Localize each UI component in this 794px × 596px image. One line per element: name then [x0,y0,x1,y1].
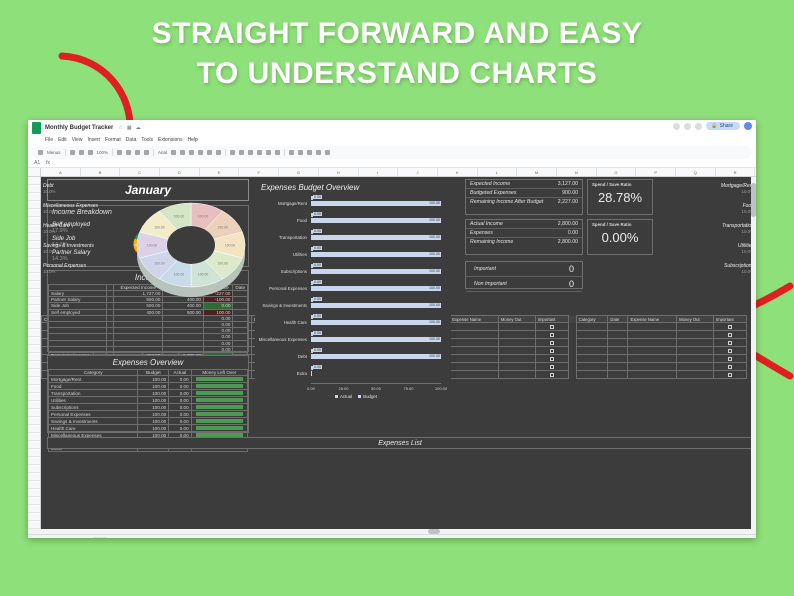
bar-budget: 100.00 [311,252,441,257]
row-header[interactable] [28,297,40,305]
functions-icon[interactable] [325,150,330,155]
align-vertical-icon[interactable] [257,150,262,155]
chevron-down-icon[interactable]: ▾ [256,538,258,539]
row-header[interactable] [28,401,40,409]
expenses-overview-money-left [191,397,247,404]
row-header[interactable] [28,441,40,449]
column-header-I[interactable]: I [359,168,399,176]
sheet-tab-aug[interactable]: Aug [262,537,276,538]
expenses-list-cell[interactable] [713,363,746,371]
expenses-list-cell[interactable] [713,323,746,331]
row-header[interactable] [28,241,40,249]
chevron-down-icon[interactable]: ▾ [305,538,307,539]
expenses-list-cell[interactable] [713,355,746,363]
chevron-down-icon[interactable]: ▾ [182,538,184,539]
zoom-level[interactable]: 100% [97,150,109,155]
decimal-decrease-icon[interactable] [135,150,140,155]
borders-icon[interactable] [230,150,235,155]
redo-icon[interactable] [70,150,75,155]
row-header[interactable] [28,321,40,329]
expenses-list-cell[interactable] [608,371,628,379]
expenses-overview-category[interactable]: Transportation [49,390,138,397]
text-color-icon[interactable] [207,150,212,155]
donut-legend-pct: 10.0% [721,209,754,214]
undo-icon[interactable] [38,150,43,155]
expenses-list-cell[interactable] [677,339,714,347]
row-header[interactable] [28,289,40,297]
menubar: FileEditViewInsertFormatDataToolsExtensi… [28,135,756,144]
expenses-list-cell[interactable] [628,339,677,347]
expenses-overview-budget[interactable]: 100.00 [138,376,169,383]
menu-view[interactable]: View [72,137,83,143]
bar-actual-value: 0.00 [313,280,322,284]
expenses-overview-actual[interactable]: 0.00 [169,425,191,432]
expenses-overview-actual[interactable]: 0.00 [169,383,191,390]
chevron-down-icon[interactable]: ▾ [135,538,137,539]
expenses-overview-money-left [191,390,247,397]
paint-format-icon[interactable] [88,150,93,155]
bar-budget: 100.00 [311,354,441,359]
column-header-R[interactable]: R [716,168,756,176]
donut-legend-item: Food10.0% [721,203,754,214]
expenses-overview-money-left [191,404,247,411]
bar-actual-value: 0.00 [313,314,322,318]
expenses-overview-category[interactable]: Food [49,383,138,390]
column-header-P[interactable]: P [636,168,676,176]
share-button[interactable]: 🔒 Share [706,122,740,130]
expenses-list-cell[interactable] [576,355,608,363]
expenses-list-cell[interactable] [535,371,568,379]
important-checkbox[interactable] [550,349,554,353]
actual-summary-value: 2,800.00 [558,221,578,227]
expenses-list-cell[interactable] [713,371,746,379]
menu-extensions[interactable]: Extensions [158,137,182,143]
bar-chart-row: Food0.00100.00 [311,213,441,230]
chevron-down-icon[interactable]: ▾ [206,538,208,539]
sheet-tab-anual-overview[interactable]: Anual Overview [47,537,84,538]
important-checkbox[interactable] [550,373,554,377]
expenses-overview-money-left [191,418,247,425]
sheet-tab-july[interactable]: July [238,537,252,538]
table-row[interactable]: Subscriptions100.000.00 [49,404,248,411]
font-size-decrease-icon[interactable] [171,150,176,155]
comment-icon[interactable] [684,123,691,130]
expenses-list-cell[interactable] [576,347,608,355]
row-header[interactable] [28,217,40,225]
expenses-overview-budget[interactable]: 100.00 [138,383,169,390]
expenses-list-cell[interactable] [498,323,535,331]
column-header-G[interactable]: G [279,168,319,176]
actual-summary-label: Actual Income [470,221,503,227]
avatar[interactable] [744,122,752,130]
column-header-C[interactable]: C [120,168,160,176]
column-header-K[interactable]: K [438,168,478,176]
expenses-overview-budget[interactable]: 100.00 [138,397,169,404]
expenses-list-cell[interactable] [713,347,746,355]
bar-budget: 100.00 [311,218,441,223]
row-header[interactable] [28,377,40,385]
menu-file[interactable]: File [45,137,53,143]
flag-value: 0 [569,264,574,274]
expenses-overview-budget[interactable]: 100.00 [138,411,169,418]
expenses-list-cell[interactable] [576,363,608,371]
donut-legend-pct: 10.0% [43,209,98,214]
column-header-E[interactable]: E [200,168,240,176]
sheet-tab-mar[interactable]: Mar [141,537,155,538]
filter-icon[interactable] [316,150,321,155]
bar-chart-x-tick: 50.00 [371,386,381,391]
row-header[interactable] [28,353,40,361]
expenses-list-cell[interactable] [628,363,677,371]
chevron-down-icon[interactable]: ▾ [111,538,113,539]
column-header-L[interactable]: L [478,168,518,176]
important-checkbox[interactable] [550,341,554,345]
bar-chart-category-label: Savings & Investments [257,303,307,308]
search-menus-label[interactable]: Menus [47,150,61,155]
expenses-list-cell[interactable] [608,355,628,363]
column-header-H[interactable]: H [319,168,359,176]
menu-tools[interactable]: Tools [141,137,153,143]
column-header-N[interactable]: N [557,168,597,176]
table-row[interactable]: Food100.000.00 [49,383,248,390]
menu-insert[interactable]: Insert [87,137,100,143]
strikethrough-icon[interactable] [198,150,203,155]
row-header[interactable] [28,225,40,233]
expenses-overview-budget[interactable]: 100.00 [138,418,169,425]
row-header[interactable] [28,265,40,273]
row-header[interactable] [28,481,40,489]
expenses-overview-money-left [191,411,247,418]
expenses-list-cell[interactable] [450,323,499,331]
row-header[interactable] [28,449,40,457]
row-header[interactable] [28,337,40,345]
row-header[interactable] [28,329,40,337]
expenses-list-cell[interactable] [498,355,535,363]
donut-slice-label: 100.00 [147,244,157,248]
donut-legend-item: Savings & Investments10.0% [43,243,98,254]
chevron-down-icon[interactable]: ▾ [232,538,234,539]
expenses-overview-actual[interactable]: 0.00 [169,376,191,383]
sheet-tab-nov[interactable]: Nov [335,537,349,538]
expenses-list-cell[interactable] [535,363,568,371]
bold-icon[interactable] [180,150,185,155]
expenses-list-cell[interactable] [535,331,568,339]
expenses-list-cell[interactable] [498,331,535,339]
expenses-list-cell[interactable] [713,339,746,347]
expenses-list-cell[interactable] [677,331,714,339]
expenses-list-cell[interactable] [608,323,628,331]
table-row[interactable]: Transportation100.000.00 [49,390,248,397]
bar-actual-value: 0.00 [313,348,322,352]
sheet-tab-jan[interactable]: Jan [93,537,107,538]
important-checkbox[interactable] [728,365,732,369]
horizontal-scrollbar[interactable] [28,529,756,534]
expenses-list-cell[interactable] [608,347,628,355]
row-header[interactable] [28,273,40,281]
bar-chart-category-label: Food [257,218,307,223]
expenses-list-cell[interactable] [677,347,714,355]
expenses-overview-budget[interactable]: 100.00 [138,390,169,397]
expenses-list-cell[interactable] [535,323,568,331]
bar-legend-swatch [358,395,361,398]
bar-actual-value: 0.00 [313,246,322,250]
currency-icon[interactable] [117,150,122,155]
expenses-list-col-header: Date [608,316,628,323]
expenses-list-cell[interactable] [608,363,628,371]
important-checkbox[interactable] [728,341,732,345]
expenses-list-cell[interactable] [498,371,535,379]
row-header[interactable] [28,465,40,473]
row-header[interactable] [28,457,40,465]
expenses-overview-category[interactable]: Health Care [49,425,138,432]
italic-icon[interactable] [189,150,194,155]
expenses-overview-actual[interactable]: 0.00 [169,418,191,425]
expenses-list-cell[interactable] [677,371,714,379]
row-header[interactable] [28,201,40,209]
expenses-list-cell[interactable] [628,331,677,339]
expenses-list-cell[interactable] [713,331,746,339]
history-icon[interactable] [673,123,680,130]
column-header-O[interactable]: O [597,168,637,176]
row-header[interactable] [28,305,40,313]
bar-chart-category-label: Health Care [257,320,307,325]
expenses-list-cell[interactable] [576,323,608,331]
important-checkbox[interactable] [728,373,732,377]
select-all-corner[interactable] [28,168,41,176]
menu-format[interactable]: Format [105,137,121,143]
important-checkbox[interactable] [550,365,554,369]
row-header[interactable] [28,233,40,241]
expenses-list-cell[interactable] [450,355,499,363]
expenses-overview-actual[interactable]: 0.00 [169,404,191,411]
insert-link-icon[interactable] [289,150,294,155]
row-header[interactable] [28,505,40,513]
chevron-down-icon[interactable]: ▾ [328,538,330,539]
expenses-list-cell[interactable] [498,339,535,347]
row-header[interactable] [28,513,40,521]
important-checkbox[interactable] [728,333,732,337]
donut-slice-label: 100.00 [217,226,227,230]
expenses-overview-actual[interactable]: 0.00 [169,390,191,397]
bar-chart-row: Mortgage/Rent0.00100.00 [311,196,441,213]
important-checkbox[interactable] [550,333,554,337]
print-icon[interactable] [79,150,84,155]
insert-comment-icon[interactable] [298,150,303,155]
chevron-down-icon[interactable]: ▾ [159,538,161,539]
row-header[interactable] [28,313,40,321]
important-checkbox[interactable] [550,325,554,329]
bar-chart-category-label: Debt [257,354,307,359]
expenses-list-cell[interactable] [450,331,499,339]
bar-chart-row: Debt0.00100.00 [311,349,441,366]
expenses-list-cell[interactable] [535,339,568,347]
sheet-tab-apr[interactable]: Apr [165,537,178,538]
budgeted-summary-value: 2,227.00 [558,199,578,205]
expenses-list-cell[interactable] [628,323,677,331]
table-row[interactable]: Personal Expenses100.000.00 [49,411,248,418]
row-header[interactable] [28,185,40,193]
sheet-tab-june[interactable]: June [212,537,228,538]
chevron-down-icon[interactable]: ▾ [376,538,378,539]
row-header[interactable] [28,361,40,369]
menu-data[interactable]: Data [126,137,137,143]
column-header-D[interactable]: D [160,168,200,176]
sheet-tab-oct[interactable]: Oct [312,537,325,538]
move-folder-icon[interactable]: ▦ [127,125,132,131]
row-header[interactable] [28,433,40,441]
expenses-overview-category[interactable]: Subscriptions [49,404,138,411]
expenses-overview-category[interactable]: Savings & Investments [49,418,138,425]
table-row[interactable]: Savings & Investments100.000.00 [49,418,248,425]
bar-chart-row: Miscellaneous Expenses0.00100.00 [311,332,441,349]
row-header[interactable] [28,497,40,505]
merge-cells-icon[interactable] [239,150,244,155]
all-sheets-icon[interactable]: ☰ [32,538,36,539]
bar-actual: 0.00 [311,230,313,234]
important-checkbox[interactable] [728,325,732,329]
table-row[interactable]: Mortgage/Rent100.000.00 [49,376,248,383]
bar-chart-category-label: Miscellaneous Expenses [257,337,307,342]
menu-help[interactable]: Help [188,137,198,143]
expenses-list-cell[interactable] [535,355,568,363]
bar-actual: 0.00 [311,281,313,285]
text-rotation-icon[interactable] [275,150,280,155]
expenses-overview-budget[interactable]: 100.00 [138,425,169,432]
important-checkbox[interactable] [728,349,732,353]
important-checkbox[interactable] [550,357,554,361]
star-icon[interactable]: ☆ [118,125,122,131]
expenses-list-cell[interactable] [450,371,499,379]
row-header[interactable] [28,385,40,393]
expenses-list-block-gap [568,363,576,371]
row-header[interactable] [28,257,40,265]
decimal-increase-icon[interactable] [144,150,149,155]
expenses-overview-actual[interactable]: 0.00 [169,397,191,404]
bar-chart-row: Personal Expenses0.00100.00 [311,281,441,298]
budgeted-summary-card: Expected Income3,127.00Budgeted Expenses… [465,179,583,215]
expenses-overview-actual[interactable]: 0.00 [169,411,191,418]
row-header[interactable] [28,393,40,401]
name-box[interactable]: A1 [34,160,40,166]
expenses-list-cell[interactable] [535,347,568,355]
expenses-list-cell[interactable] [677,355,714,363]
row-header[interactable] [28,521,40,529]
table-row[interactable]: Utilities100.000.00 [49,397,248,404]
row-header[interactable] [28,281,40,289]
actual-summary-row: Remaining Income2,800.00 [466,238,582,246]
expenses-overview-category[interactable]: Personal Expenses [49,411,138,418]
expenses-list-cell[interactable] [677,323,714,331]
table-row[interactable]: Health Care100.000.00 [49,425,248,432]
expenses-list-cell[interactable] [576,371,608,379]
column-header-B[interactable]: B [81,168,121,176]
bar-actual: 0.00 [311,196,313,200]
bar-budget: 100.00 [311,320,441,325]
donut-legend-pct: 10.0% [43,189,98,194]
font-family-select[interactable]: Arial [158,150,167,155]
row-header[interactable] [28,489,40,497]
fill-color-icon[interactable] [216,150,221,155]
bar-budget-value: 100.00 [429,252,440,256]
chevron-down-icon[interactable]: ▾ [87,538,89,539]
align-horizontal-icon[interactable] [248,150,253,155]
menu-edit[interactable]: Edit [58,137,67,143]
expenses-list-cell[interactable] [498,363,535,371]
bar-budget: 100.00 [311,235,441,240]
column-header-F[interactable]: F [239,168,279,176]
chevron-down-icon[interactable]: ▾ [352,538,354,539]
expenses-overview-category[interactable]: Mortgage/Rent [49,376,138,383]
expenses-list-cell[interactable] [450,339,499,347]
expenses-list-cell[interactable] [628,355,677,363]
sheet-tab-may[interactable]: May [188,537,202,538]
sheet-tab-feb[interactable]: Feb [117,537,131,538]
meet-icon[interactable] [695,123,702,130]
row-header[interactable] [28,249,40,257]
sheet-tab-dec[interactable]: Dec [359,537,373,538]
expenses-overview-money-left [191,383,247,390]
row-header[interactable] [28,409,40,417]
row-header[interactable] [28,209,40,217]
toolbar: Menus 100% Arial [32,146,752,159]
expenses-list-cell[interactable] [608,331,628,339]
text-wrap-icon[interactable] [266,150,271,155]
expenses-list-col-header: Money Out [677,316,714,323]
row-header[interactable] [28,417,40,425]
expenses-list-cell[interactable] [628,347,677,355]
row-header[interactable] [28,345,40,353]
expenses-list-cell[interactable] [608,339,628,347]
row-header[interactable] [28,369,40,377]
row-header[interactable] [28,193,40,201]
bar-chart-category-label: Personal Expenses [257,286,307,291]
percent-icon[interactable] [126,150,131,155]
insert-chart-icon[interactable] [307,150,312,155]
expenses-list-cell[interactable] [450,347,499,355]
expenses-list-cell[interactable] [677,363,714,371]
vertical-scrollbar[interactable] [751,177,756,529]
bar-budget: 100.00 [311,201,441,206]
expenses-list-cell[interactable] [498,347,535,355]
document-title[interactable]: Monthly Budget Tracker [45,125,113,131]
expenses-budget-bar-chart[interactable]: Expenses Budget Overview Mortgage/Rent0.… [255,179,451,433]
expenses-overview-budget[interactable]: 100.00 [138,404,169,411]
table-row[interactable]: Self employed400.00500.00100.00 [49,309,248,315]
expenses-list-cell[interactable] [628,371,677,379]
donut-legend-item: Personal Expenses10.0% [43,263,98,274]
expenses-list-cell[interactable] [450,363,499,371]
budgeted-summary-row: Expected Income3,127.00 [466,180,582,189]
bar-chart-category-label: Extra [257,371,307,376]
bar-chart-x-tick: 100.00 [435,386,447,391]
chevron-down-icon[interactable]: ▾ [280,538,282,539]
column-header-J[interactable]: J [398,168,438,176]
sheet-tab-sept[interactable]: Sept [286,537,301,538]
bar-budget-value: 100.00 [429,303,440,307]
expenses-list-cell[interactable] [576,339,608,347]
row-header[interactable] [28,177,40,185]
expenses-list-cell[interactable] [576,331,608,339]
row-header[interactable] [28,473,40,481]
column-header-A[interactable]: A [41,168,81,176]
formula-bar[interactable]: A1 fx [28,159,756,168]
row-header[interactable] [28,425,40,433]
bar-legend-label: Actual [340,394,352,399]
column-header-Q[interactable]: Q [676,168,716,176]
important-checkbox[interactable] [728,357,732,361]
expenses-overview-category[interactable]: Utilities [49,397,138,404]
column-header-M[interactable]: M [517,168,557,176]
